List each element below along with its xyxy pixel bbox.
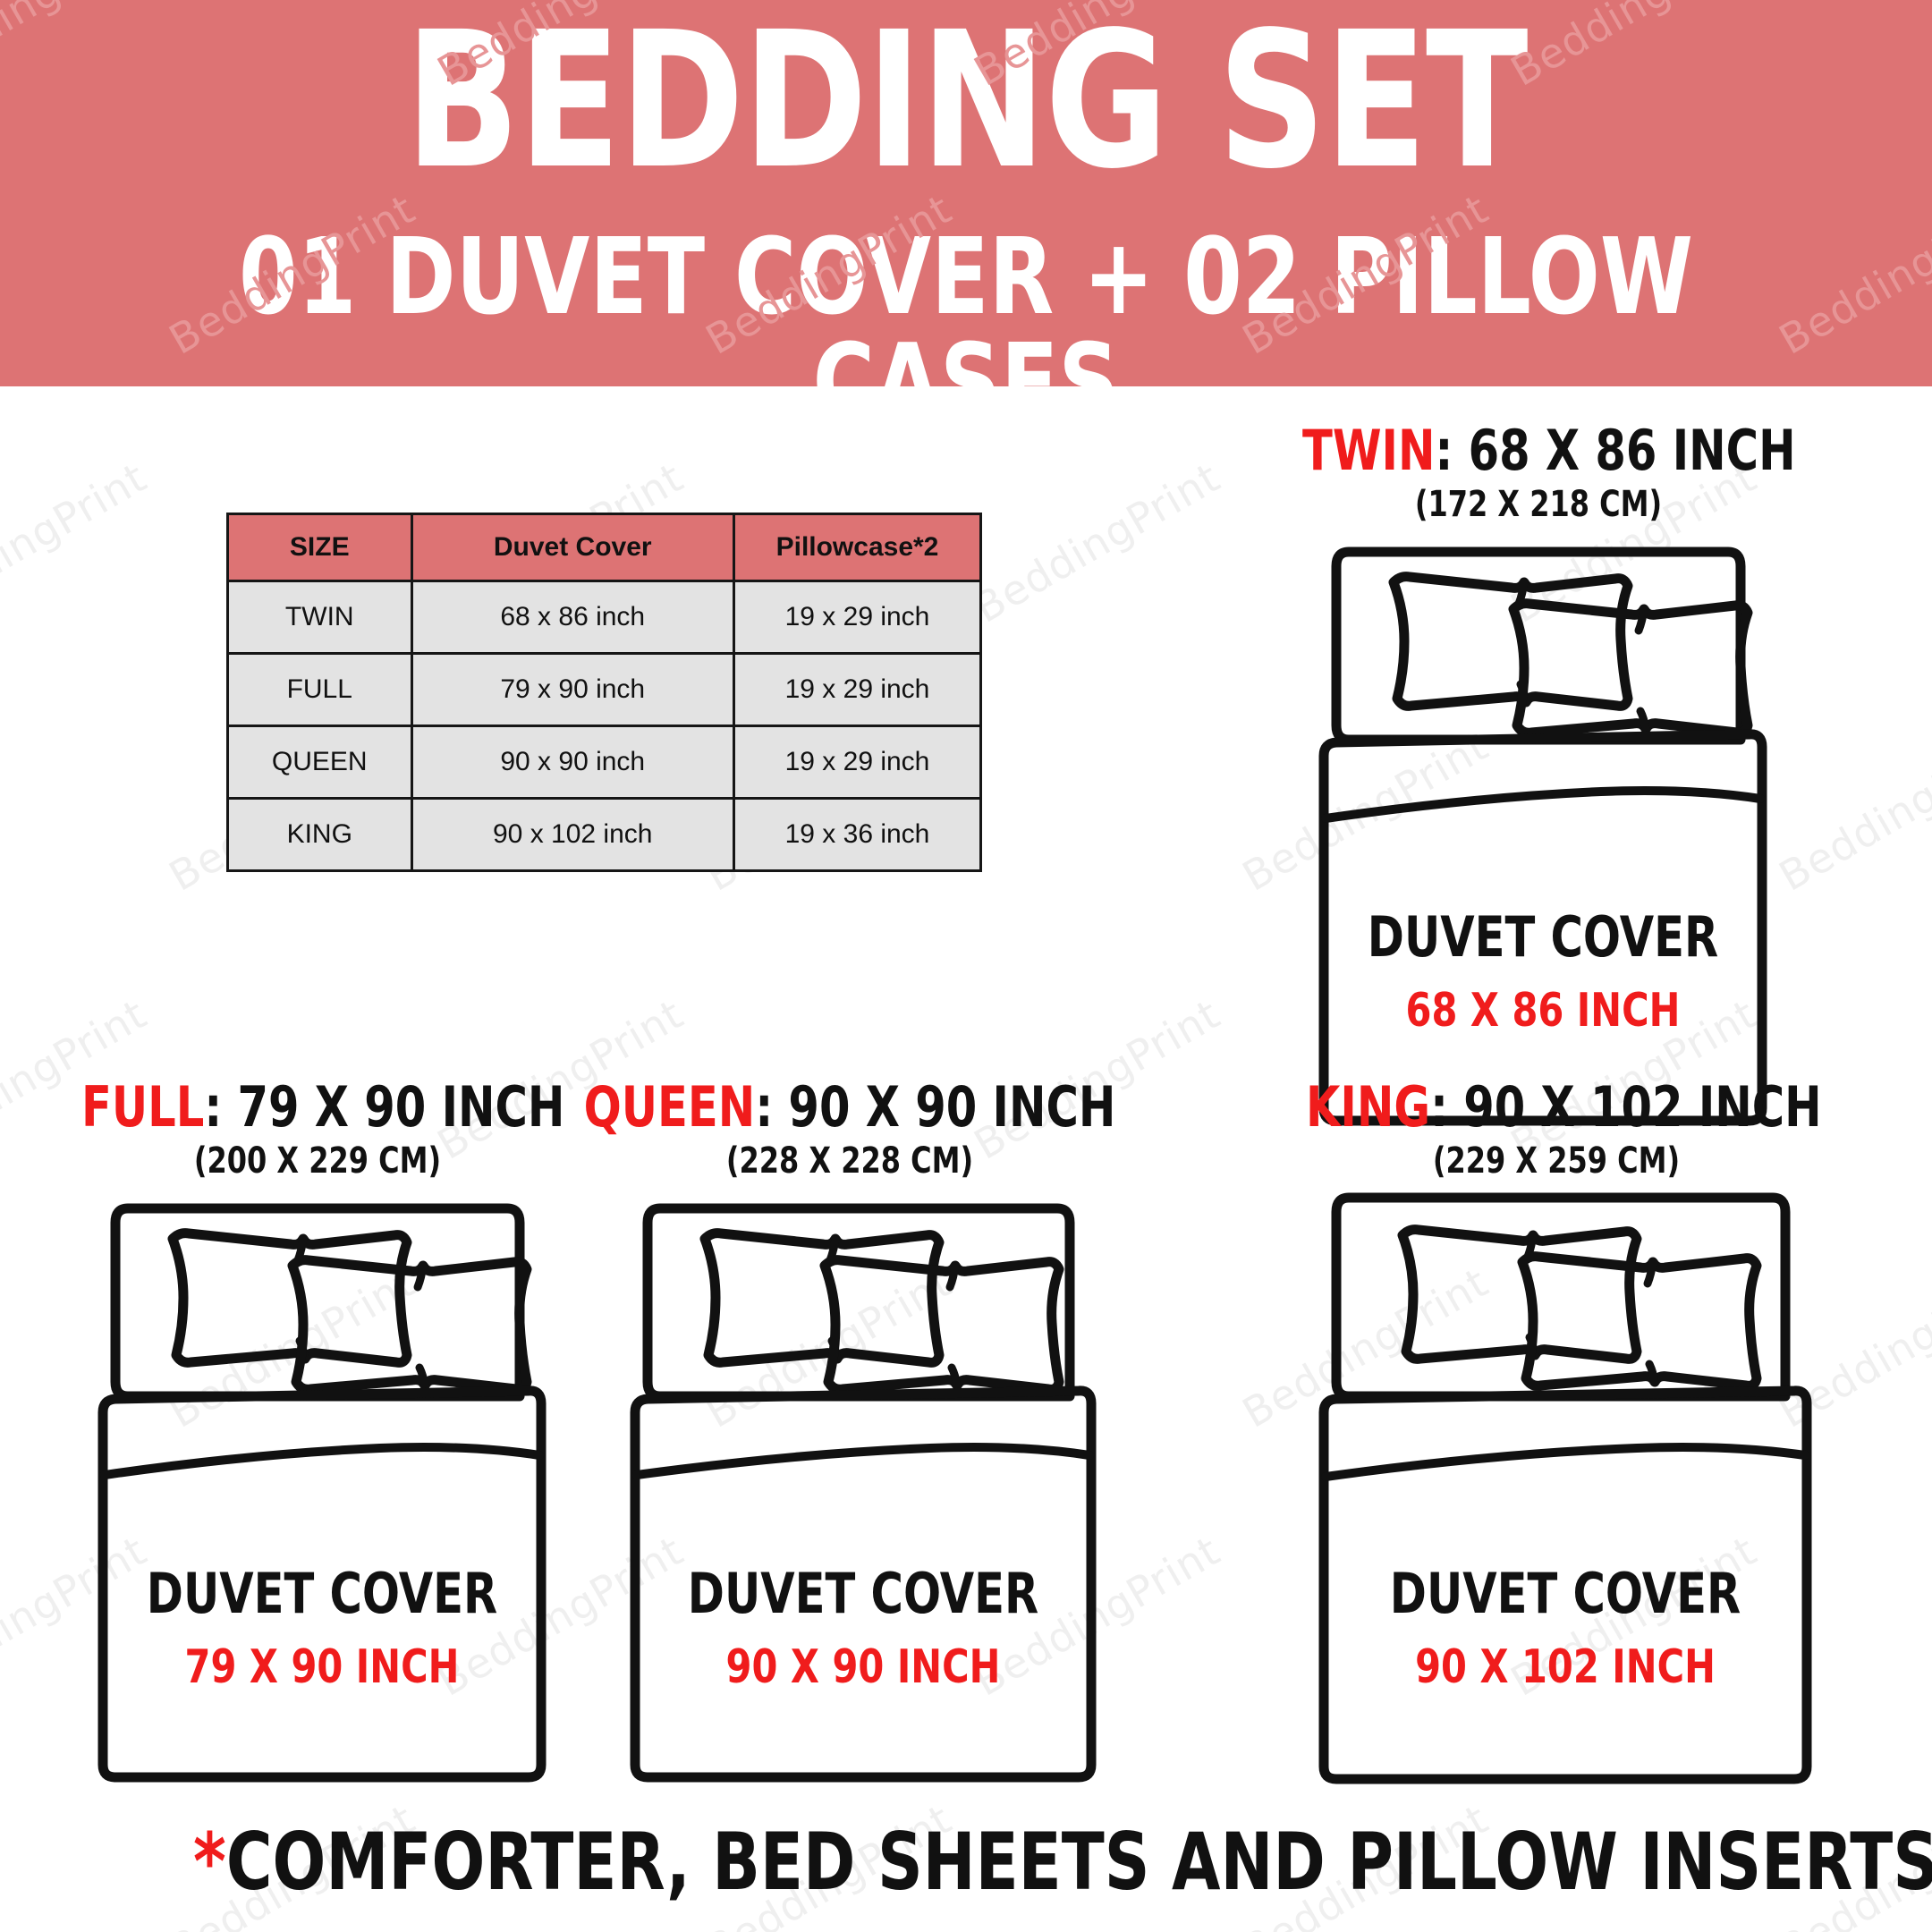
- pillow-right-tuck-top: [1639, 609, 1644, 631]
- cell-duvet: 68 x 86 inch: [411, 581, 733, 654]
- cell-duvet: 90 x 90 inch: [411, 726, 733, 799]
- page-subtitle: 01 DUVET COVER + 02 PILLOW CASES: [193, 224, 1739, 386]
- watermark-text: BeddingPrint: [0, 453, 155, 631]
- bed-top-panel: [1336, 1198, 1785, 1396]
- diagram-queen-duvet-label: DUVET COVER: [688, 1563, 1038, 1627]
- cell-pillowcase: 19 x 29 inch: [733, 581, 980, 654]
- column-header-pillowcase: Pillowcase*2: [733, 514, 980, 581]
- duvet-fold-seam: [637, 1447, 1089, 1475]
- diagram-full-size-name: FULL: [81, 1074, 204, 1140]
- diagram-twin-cm: (172 X 218 CM): [1302, 486, 1775, 523]
- diagram-king-cm: (229 X 259 CM): [1306, 1142, 1807, 1180]
- pillow-right-tuck-top: [950, 1266, 955, 1287]
- diagram-queen-size-inch: : 90 X 90 INCH: [755, 1074, 1115, 1140]
- disclaimer-note: *COMFORTER, BED SHEETS AND PILLOW INSERT…: [193, 1823, 1739, 1902]
- disclaimer-asterisk: *: [193, 1816, 226, 1908]
- size-chart-page: BEDDING SET 01 DUVET COVER + 02 PILLOW C…: [0, 0, 1932, 1932]
- pillow-right-tuck-bottom: [1649, 1364, 1655, 1382]
- pillow-right: [1513, 604, 1748, 733]
- diagram-twin-size-name: TWIN: [1302, 418, 1436, 483]
- diagram-king: KING: 90 X 102 INCH (229 X 259 CM) DUVET…: [1243, 1079, 1869, 1802]
- diagram-queen: QUEEN: 90 X 90 INCH (228 X 228 CM) DUVET…: [376, 1079, 1324, 1801]
- pillow-right-tuck-bottom: [952, 1368, 957, 1385]
- cell-size: KING: [228, 799, 412, 871]
- diagram-king-duvet-label: DUVET COVER: [1390, 1563, 1741, 1627]
- duvet-fold-seam: [1326, 1447, 1805, 1477]
- table-row: TWIN 68 x 86 inch 19 x 29 inch: [228, 581, 981, 654]
- cell-pillowcase: 19 x 29 inch: [733, 726, 980, 799]
- pillow-right: [825, 1260, 1059, 1390]
- pillow-left: [1402, 1230, 1637, 1360]
- diagram-twin-illustration: DUVET COVER 68 X 86 INCH: [1243, 536, 1834, 1144]
- duvet-fold-seam: [1326, 791, 1760, 818]
- diagram-king-size-name: KING: [1306, 1074, 1430, 1140]
- diagram-twin-size-inch: : 68 X 86 INCH: [1436, 418, 1796, 483]
- pillow-left: [1394, 577, 1628, 707]
- diagram-king-heading: KING: 90 X 102 INCH: [1306, 1079, 1807, 1135]
- pillow-left: [173, 1233, 407, 1363]
- cell-pillowcase: 19 x 29 inch: [733, 654, 980, 726]
- cell-size: FULL: [228, 654, 412, 726]
- diagram-queen-illustration: DUVET COVER 90 X 90 INCH: [376, 1192, 1324, 1801]
- pillow-right-tuck-bottom: [1640, 711, 1646, 729]
- diagram-queen-cm: (228 X 228 CM): [470, 1142, 1229, 1180]
- diagram-king-size-text: 90 X 102 INCH: [1415, 1640, 1716, 1695]
- table-header-row: SIZE Duvet Cover Pillowcase*2: [228, 514, 981, 581]
- disclaimer-text-before: COMFORTER, BED SHEETS AND PILLOW INSERTS: [226, 1816, 1932, 1908]
- header-banner: BEDDING SET 01 DUVET COVER + 02 PILLOW C…: [0, 0, 1932, 386]
- diagram-twin-size-text: 68 X 86 INCH: [1406, 984, 1681, 1038]
- pillow-left: [705, 1233, 939, 1363]
- pillow-right-tuck-top: [1648, 1262, 1653, 1284]
- pillow-right: [1522, 1257, 1757, 1386]
- page-title: BEDDING SET: [193, 7, 1739, 195]
- cell-pillowcase: 19 x 36 inch: [733, 799, 980, 871]
- diagram-twin-duvet-label: DUVET COVER: [1368, 906, 1718, 970]
- cell-duvet: 79 x 90 inch: [411, 654, 733, 726]
- cell-duvet: 90 x 102 inch: [411, 799, 733, 871]
- diagram-queen-size-name: QUEEN: [584, 1074, 756, 1140]
- table-row: QUEEN 90 x 90 inch 19 x 29 inch: [228, 726, 981, 799]
- diagram-twin-heading: TWIN: 68 X 86 INCH: [1302, 422, 1775, 479]
- table-row: KING 90 x 102 inch 19 x 36 inch: [228, 799, 981, 871]
- diagram-twin: TWIN: 68 X 86 INCH (172 X 218 CM): [1243, 422, 1834, 1144]
- diagram-king-illustration: DUVET COVER 90 X 102 INCH: [1243, 1185, 1869, 1802]
- cell-size: QUEEN: [228, 726, 412, 799]
- column-header-size: SIZE: [228, 514, 412, 581]
- cell-size: TWIN: [228, 581, 412, 654]
- column-header-duvet: Duvet Cover: [411, 514, 733, 581]
- size-table: SIZE Duvet Cover Pillowcase*2 TWIN 68 x …: [226, 513, 982, 872]
- diagram-king-size-inch: : 90 X 102 INCH: [1430, 1074, 1822, 1140]
- diagram-queen-heading: QUEEN: 90 X 90 INCH: [470, 1079, 1229, 1135]
- diagram-queen-size-text: 90 X 90 INCH: [726, 1640, 1001, 1695]
- watermark-text: BeddingPrint: [966, 453, 1228, 631]
- table-row: FULL 79 x 90 inch 19 x 29 inch: [228, 654, 981, 726]
